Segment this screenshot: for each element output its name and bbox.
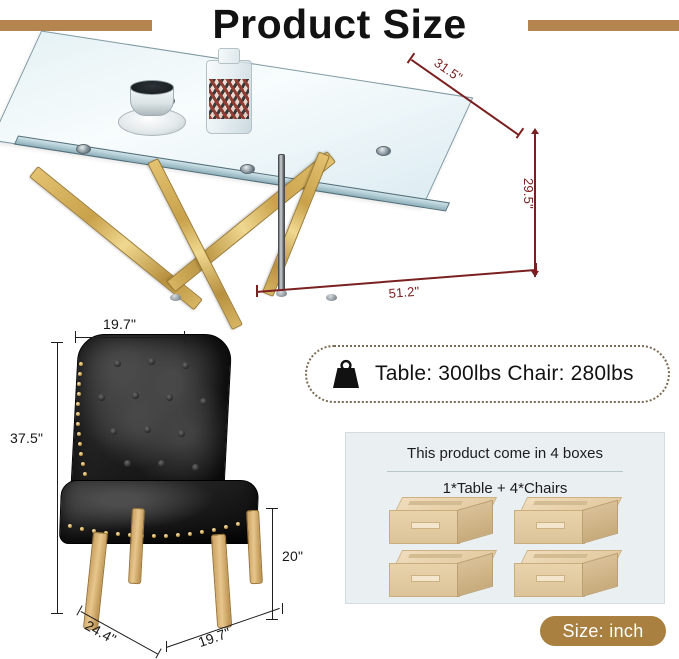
tuft-button [110, 428, 117, 435]
packaging-title: This product come in 4 boxes [346, 445, 664, 462]
chair-total-height-label: 37.5" [10, 430, 43, 446]
tuft-button [144, 426, 151, 433]
tuft-button [182, 362, 189, 369]
tuft-button [132, 392, 139, 399]
carton [389, 550, 500, 597]
carton [514, 550, 625, 597]
carton-tape [408, 501, 463, 505]
tuft-button [114, 360, 121, 367]
chair-leg-back-right [246, 510, 263, 585]
tabletop-screw-right [376, 146, 391, 156]
table-foot-left [170, 294, 181, 301]
chair-leg-front-right [211, 534, 233, 629]
glass-vase [206, 60, 252, 134]
vase-neck [218, 48, 240, 64]
vase-contents [209, 79, 249, 119]
infographic-canvas: Product Size 31.5" [0, 0, 679, 655]
carton-label [536, 575, 565, 581]
carton [389, 497, 500, 544]
packaging-subtitle: 1*Table + 4*Chairs [346, 480, 664, 497]
carton-tape [408, 554, 463, 558]
packaging-divider [387, 471, 623, 472]
table-height-label: 29.5" [521, 178, 536, 209]
tuft-button [158, 460, 165, 467]
tuft-button [192, 464, 199, 471]
carton-tape [533, 501, 588, 505]
tuft-button [166, 394, 173, 401]
tabletop-screw-mid [240, 164, 255, 174]
table-width-label: 51.2" [388, 284, 420, 301]
carton [514, 497, 625, 544]
tuft-button [148, 358, 155, 365]
carton-label [411, 522, 440, 528]
carton-label [536, 522, 565, 528]
chair-leg-back-left [128, 508, 145, 585]
carton-label [411, 575, 440, 581]
table-foot-center [276, 290, 287, 297]
chair-illustration [52, 332, 287, 632]
tabletop-screw-left [76, 144, 91, 154]
packaging-panel: This product come in 4 boxes 1*Table + 4… [345, 432, 665, 604]
carton-grid [389, 497, 625, 597]
cup-rim [130, 80, 174, 95]
table-foot-right [326, 294, 337, 301]
tuft-button [98, 394, 105, 401]
table-center-post [278, 154, 285, 296]
tuft-button [200, 398, 207, 405]
weight-capacity-callout: Table: 300lbs Chair: 280lbs [305, 345, 670, 403]
chair-back-width-label: 19.7" [103, 316, 136, 332]
tuft-button [178, 430, 185, 437]
tuft-button [124, 460, 131, 467]
chair-seat [59, 480, 259, 544]
size-unit-badge: Size: inch [540, 616, 666, 646]
carton-tape [533, 554, 588, 558]
weight-capacity-text: Table: 300lbs Chair: 280lbs [375, 362, 634, 386]
chair-seat-height-label: 20" [282, 548, 303, 564]
weight-icon [329, 359, 363, 389]
